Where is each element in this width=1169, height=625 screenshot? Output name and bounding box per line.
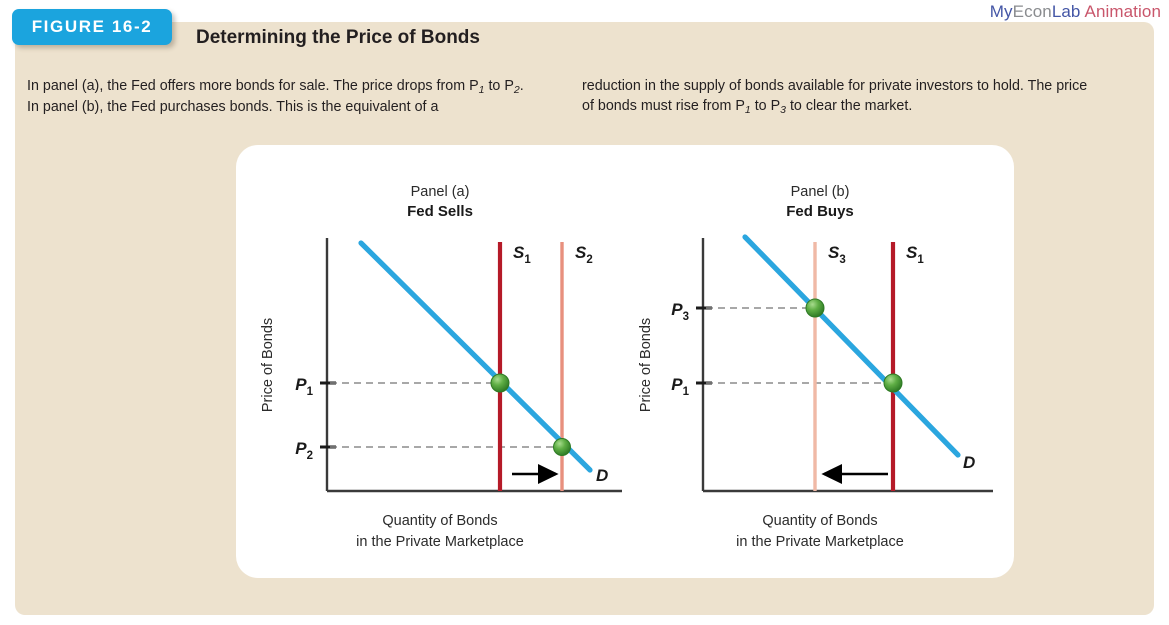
myeconlab-branding: MyEconLabAnimation [990,2,1161,22]
caption-right-column: reduction in the supply of bonds availab… [582,76,1102,117]
brand-my: My [990,2,1013,21]
brand-lab: Lab [1052,2,1081,21]
brand-animation: Animation [1085,2,1162,21]
brand-econ: Econ [1013,2,1052,21]
figure-number-label: FIGURE 16-2 [32,17,153,37]
figure-number-badge: FIGURE 16-2 [12,9,172,45]
caption-right-sub-1: 1 [745,104,751,116]
caption-left-text-2: to P [484,78,513,94]
caption-left-text-1: In panel (a), the Fed offers more bonds … [27,78,479,94]
figure-title: Determining the Price of Bonds [196,27,480,49]
caption-left-sub-1: 1 [479,84,485,96]
caption-left-sub-2: 2 [514,84,520,96]
chart-card [236,145,1014,578]
caption-left-column: In panel (a), the Fed offers more bonds … [27,76,527,117]
caption-right-sub-2: 3 [780,104,786,116]
caption-right-text-2: to P [751,98,780,114]
caption-right-text-3: to clear the market. [786,98,912,114]
